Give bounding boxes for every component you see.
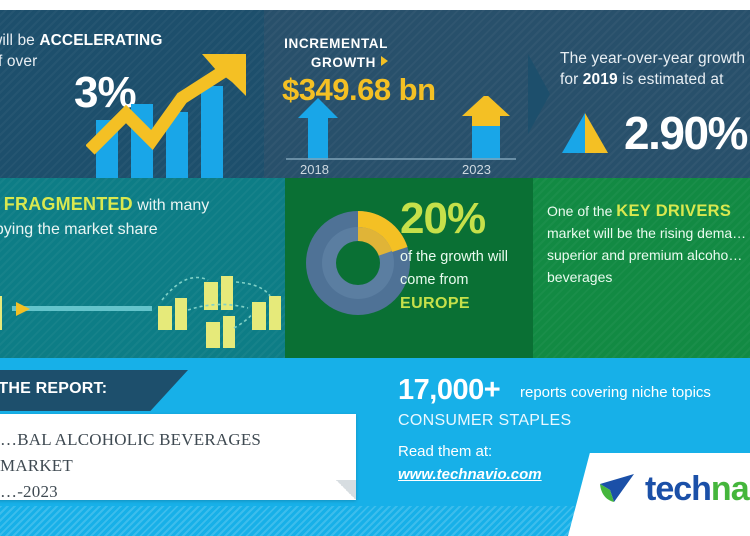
panel-key-drivers: One of the KEY DRIVERS market will be th… (533, 178, 750, 358)
fragmentation-diagram (0, 266, 285, 352)
panel-europe-share: 20% of the growth will come from EUROPE (285, 178, 533, 358)
donut-sub-line1: of the growth will (400, 249, 508, 265)
report-title-line1: …BAL ALCOHOLIC BEVERAGES MARKET (0, 430, 261, 475)
report-title-line2: …-2023 (0, 482, 58, 501)
incremental-bars (286, 96, 516, 160)
yoy-text-line2-suffix: is estimated at (618, 71, 724, 88)
play-triangle-icon (381, 56, 388, 66)
panel-fragmented: …et is FRAGMENTED with many …ccupying th… (0, 178, 285, 358)
reports-coverage-label: reports covering niche topics (520, 384, 711, 401)
row-middle: …et is FRAGMENTED with many …ccupying th… (0, 178, 750, 358)
building-cluster-4 (252, 296, 281, 330)
logo-text-blue: tech (645, 470, 711, 508)
bar-2023-base (472, 126, 500, 160)
donut-sub-line2: come from (400, 272, 469, 288)
cagr-text-bold: ACCELERATING (39, 32, 162, 49)
fragmented-text-line2: …ccupying the market share (0, 221, 158, 238)
bar-2018-arrow (298, 98, 338, 160)
origin-building-icon (0, 296, 2, 330)
fragmented-text-bold: FRAGMENTED (4, 194, 133, 214)
yoy-text-line2-prefix: for (560, 71, 583, 88)
donut-percent: 20% (400, 196, 533, 242)
technavio-wordmark: techna (645, 472, 749, 506)
report-card[interactable]: …BAL ALCOHOLIC BEVERAGES MARKET …-2023 (0, 414, 356, 500)
incremental-title-line1: INCREMENTAL (284, 36, 388, 51)
read-them-at-label: Read them at: (398, 443, 492, 460)
panel-cagr: …et will be ACCELERATING …R of over 3% (0, 10, 264, 178)
technavio-arrow-icon (598, 472, 638, 506)
logo-text-green: na (711, 470, 749, 508)
yoy-value-row: 2.90% (560, 106, 747, 160)
drivers-headline: One of the KEY DRIVERS market will be th… (547, 200, 750, 288)
panel-incremental-growth: INCREMENTAL GROWTH $349.68 bn 2018 2023 (264, 10, 538, 178)
donut-subtext: of the growth will come from EUROPE (400, 246, 533, 316)
incremental-title-line2: GROWTH (311, 55, 376, 70)
up-triangle-icon (560, 111, 610, 155)
bar-label-2018: 2018 (300, 162, 329, 177)
yoy-headline: The year-over-year growth for 2019 is es… (560, 48, 750, 90)
donut-region: EUROPE (400, 295, 470, 312)
building-cluster-3 (206, 316, 235, 348)
incremental-title: INCREMENTAL GROWTH (284, 34, 388, 72)
cagr-text-prefix: …et will be (0, 32, 39, 49)
infographic-canvas: …et will be ACCELERATING …R of over 3% I… (0, 0, 750, 536)
panel-yoy-growth: The year-over-year growth for 2019 is es… (538, 10, 750, 178)
yoy-year: 2019 (583, 71, 618, 88)
bar-label-2023: 2023 (462, 162, 491, 177)
drivers-text-line4: beverages (547, 269, 612, 285)
accelerating-bar-arrow-chart (86, 52, 264, 178)
chart-bar-4 (201, 86, 223, 178)
flow-line (12, 306, 152, 311)
page-fold-icon (336, 480, 356, 500)
fragmented-text-mid: with many (133, 197, 209, 214)
fragmented-headline: …et is FRAGMENTED with many …ccupying th… (0, 192, 284, 242)
row-top: …et will be ACCELERATING …R of over 3% I… (0, 10, 750, 178)
reports-category: CONSUMER STAPLES (398, 412, 571, 430)
technavio-url-link[interactable]: www.technavio.com (398, 466, 542, 483)
building-cluster-1 (158, 298, 187, 330)
download-report-label: …AD THE REPORT: (0, 380, 184, 398)
drivers-text-line3: superior and premium alcoho… (547, 247, 742, 263)
cagr-text-line2: …R of over (0, 53, 37, 70)
report-title: …BAL ALCOHOLIC BEVERAGES MARKET …-2023 (0, 427, 330, 505)
yoy-value: 2.90% (624, 106, 747, 160)
flow-arrow-icon (16, 302, 30, 316)
bar-axis-line (286, 158, 516, 160)
drivers-text-line2: market will be the rising dema… (547, 225, 746, 241)
technavio-logo[interactable]: techna (598, 472, 749, 506)
drivers-text-prefix: One of the (547, 203, 616, 219)
drivers-text-bold: KEY DRIVERS (616, 202, 731, 220)
reports-count: 17,000+ (398, 374, 500, 407)
donut-hole (336, 241, 380, 285)
yoy-text-prefix: The year-over-year growth (560, 50, 745, 67)
download-report-tab[interactable]: …AD THE REPORT: (0, 370, 188, 411)
donut-labels: 20% of the growth will come from EUROPE (400, 196, 533, 316)
